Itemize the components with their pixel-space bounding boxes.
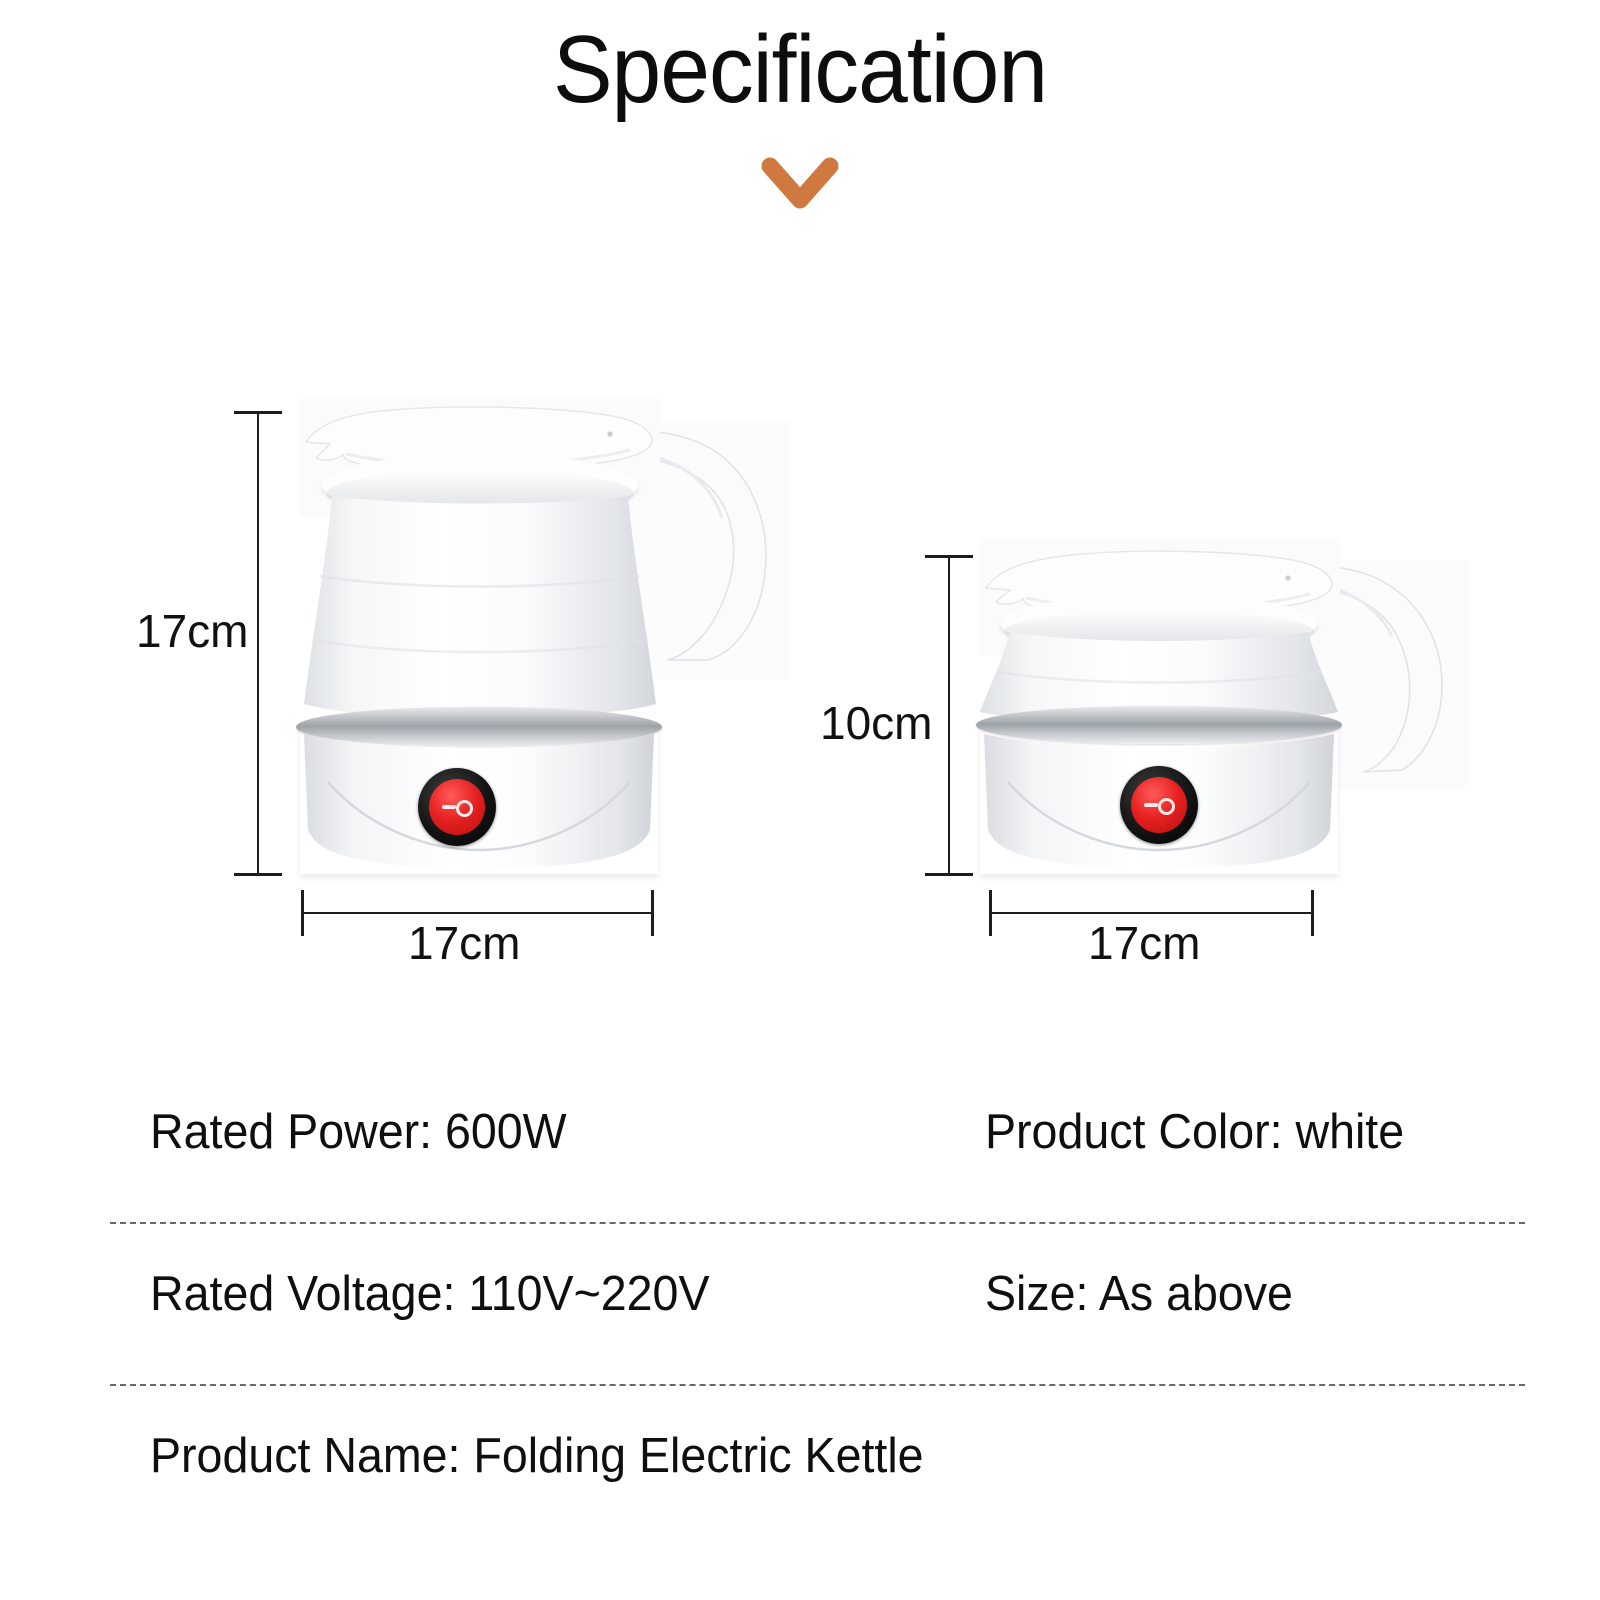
spec-row: Product Name: Folding Electric Kettle	[0, 1384, 1600, 1546]
width-dimension-label-right: 17cm	[1088, 920, 1200, 966]
width-dimension-cap-end-right	[1311, 890, 1314, 936]
kettle-collapsed-illustration: 10cm 17cm	[800, 0, 1600, 1000]
height-dimension-cap-top-right	[925, 555, 973, 558]
width-dimension-cap-start-right	[989, 890, 992, 936]
kettle-expanded-illustration: 17cm 17cm	[0, 0, 800, 1000]
height-dimension-cap-top-left	[234, 411, 282, 414]
width-dimension-cap-start-left	[301, 890, 304, 936]
spec-row: Rated Power: 600W Product Color: white	[0, 1060, 1600, 1222]
switch-off-mark	[442, 805, 456, 809]
power-switch[interactable]	[418, 768, 496, 846]
switch-on-mark	[456, 800, 473, 817]
height-dimension-cap-bottom-right	[925, 873, 973, 876]
product-figure-area: 17cm 17cm	[0, 0, 1600, 1020]
height-dimension-line-right	[948, 556, 950, 876]
width-dimension-label-left: 17cm	[408, 920, 520, 966]
switch-on-mark	[1158, 798, 1175, 815]
width-dimension-line-left	[302, 912, 654, 914]
spec-product-color: Product Color: white	[985, 1104, 1404, 1160]
switch-off-mark	[1144, 803, 1158, 807]
height-dimension-line-left	[257, 412, 259, 876]
spec-rated-voltage: Rated Voltage: 110V~220V	[150, 1266, 709, 1322]
spec-rated-power: Rated Power: 600W	[150, 1104, 567, 1160]
height-dimension-label-left: 17cm	[136, 608, 248, 654]
specification-table: Rated Power: 600W Product Color: white R…	[0, 1060, 1600, 1546]
spec-size: Size: As above	[985, 1266, 1293, 1322]
kettle-body	[296, 490, 664, 735]
power-switch[interactable]	[1120, 766, 1198, 844]
height-dimension-label-right: 10cm	[820, 700, 932, 746]
width-dimension-cap-end-left	[651, 890, 654, 936]
spec-row: Rated Voltage: 110V~220V Size: As above	[0, 1222, 1600, 1384]
width-dimension-line-right	[990, 912, 1314, 914]
spec-product-name: Product Name: Folding Electric Kettle	[150, 1428, 924, 1484]
height-dimension-cap-bottom-left	[234, 873, 282, 876]
